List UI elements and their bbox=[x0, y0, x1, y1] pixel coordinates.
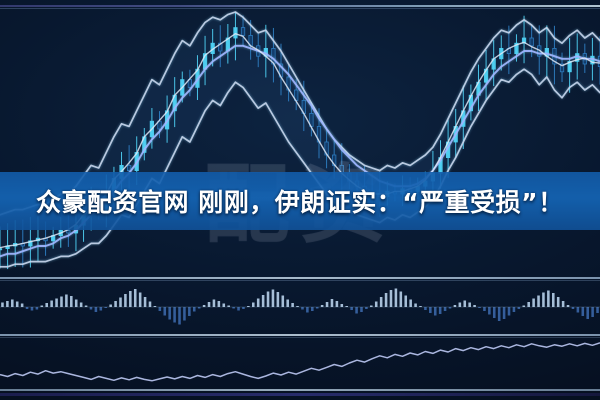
bottom-border-line-accent bbox=[0, 393, 600, 396]
headline-banner: 众豪配资官网 刚刚，伊朗证实：“严重受损”！ bbox=[0, 172, 600, 230]
panel-separator-upper bbox=[0, 277, 600, 279]
top-border-line bbox=[0, 5, 600, 7]
panel-separator-lower-faint bbox=[0, 337, 600, 338]
panel-separator-upper-faint bbox=[0, 280, 600, 281]
bottom-border-line bbox=[0, 389, 600, 391]
top-border-line-faint bbox=[0, 8, 600, 9]
headline-text: 众豪配资官网 刚刚，伊朗证实：“严重受损”！ bbox=[36, 183, 564, 219]
stock-chart-image: 配资 众豪配资官网 刚刚，伊朗证实：“严重受损”！ bbox=[0, 0, 600, 400]
panel-separator-lower bbox=[0, 334, 600, 336]
